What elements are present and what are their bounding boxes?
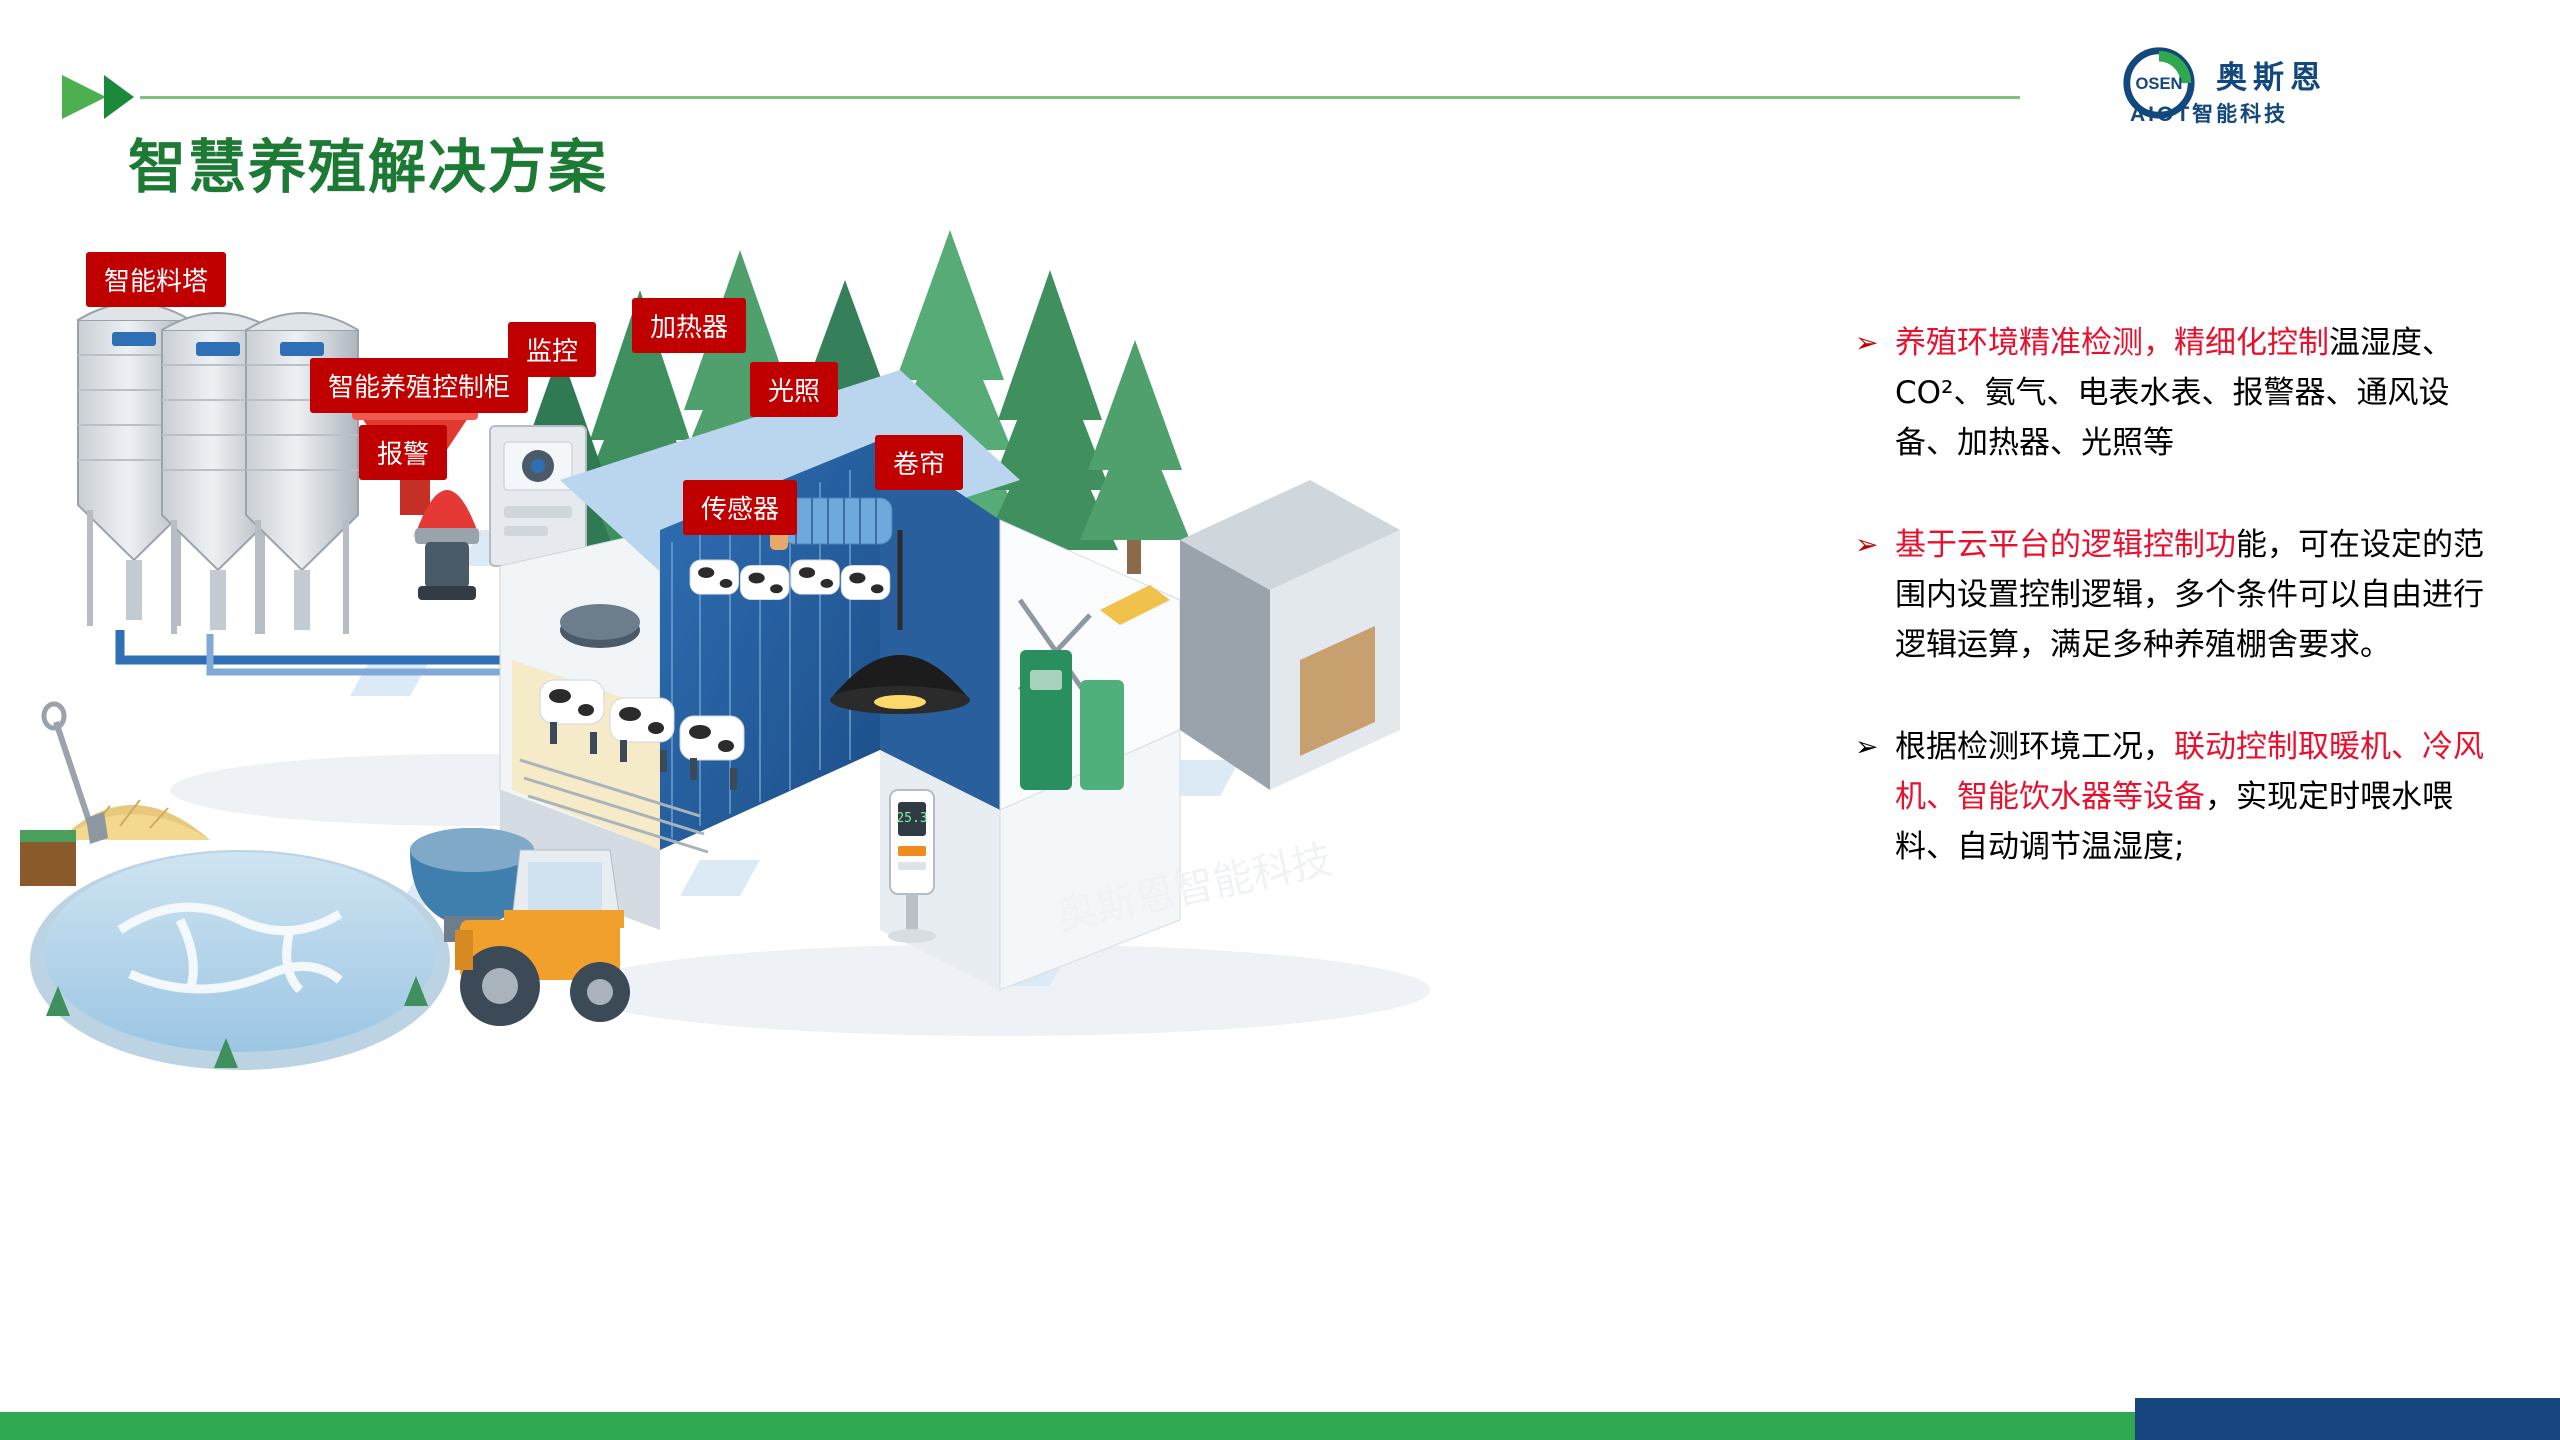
bullet-3-seg-1: 根据检测环境工况，: [1895, 729, 2174, 765]
chevron-icon-2: ➢: [1855, 520, 1895, 670]
bullet-text-1: 养殖环境精准检测，精细化控制温湿度、CO²、氨气、电表水表、报警器、通风设备、加…: [1895, 318, 2495, 468]
farm-illustration: 25.3: [0, 230, 1800, 1390]
logo-name-sub: AIOT智能科技: [2130, 98, 2288, 128]
label-sensor[interactable]: 传感器: [683, 480, 797, 535]
slide-root: 智慧养殖解决方案 OSEN 奥斯恩 AIOT智能科技: [0, 0, 2560, 1440]
label-heater[interactable]: 加热器: [632, 298, 746, 353]
control-cabinet: [490, 426, 586, 566]
label-light[interactable]: 光照: [750, 362, 838, 417]
label-cabinet[interactable]: 智能养殖控制柜: [310, 358, 528, 413]
label-alarm[interactable]: 报警: [359, 425, 447, 480]
water-pool: [30, 850, 450, 1070]
header-divider: [140, 96, 2020, 99]
bullet-text-3: 根据检测环境工况，联动控制取暖机、冷风机、智能饮水器等设备，实现定时喂水喂料、自…: [1895, 722, 2495, 872]
bullet-text-2: 基于云平台的逻辑控制功能，可在设定的范围内设置控制逻辑，多个条件可以自由进行逻辑…: [1895, 520, 2495, 670]
chevron-icon-3: ➢: [1855, 722, 1895, 872]
farm-scene-svg: 25.3: [0, 230, 1800, 1390]
header-arrow-inner-icon: [104, 75, 134, 119]
bullet-1-seg-1: 养殖环境精准检测，精细化控制: [1895, 325, 2329, 361]
brand-logo: OSEN 奥斯恩 AIOT智能科技: [2120, 36, 2420, 146]
footer-bar-green: [0, 1412, 2135, 1440]
svg-text:25.3: 25.3: [896, 811, 927, 826]
label-silo[interactable]: 智能料塔: [86, 252, 226, 307]
bullet-2-seg-1: 基于云平台的逻辑控制功: [1895, 527, 2236, 563]
footer-bar-blue: [2135, 1398, 2560, 1440]
bullet-item-2: ➢ 基于云平台的逻辑控制功能，可在设定的范围内设置控制逻辑，多个条件可以自由进行…: [1855, 520, 2495, 670]
chevron-icon-1: ➢: [1855, 318, 1895, 468]
label-curtain[interactable]: 卷帘: [875, 435, 963, 490]
bullet-list: ➢ 养殖环境精准检测，精细化控制温湿度、CO²、氨气、电表水表、报警器、通风设备…: [1855, 318, 2495, 924]
bullet-item-3: ➢ 根据检测环境工况，联动控制取暖机、冷风机、智能饮水器等设备，实现定时喂水喂料…: [1855, 722, 2495, 872]
logo-name-cn: 奥斯恩: [2216, 52, 2327, 97]
tractor-vehicle: [410, 828, 630, 1026]
page-title: 智慧养殖解决方案: [128, 120, 608, 204]
bullet-item-1: ➢ 养殖环境精准检测，精细化控制温湿度、CO²、氨气、电表水表、报警器、通风设备…: [1855, 318, 2495, 468]
label-monitor[interactable]: 监控: [508, 322, 596, 377]
header-arrow-outer-icon: [62, 75, 106, 119]
svg-text:OSEN: OSEN: [2136, 74, 2183, 93]
